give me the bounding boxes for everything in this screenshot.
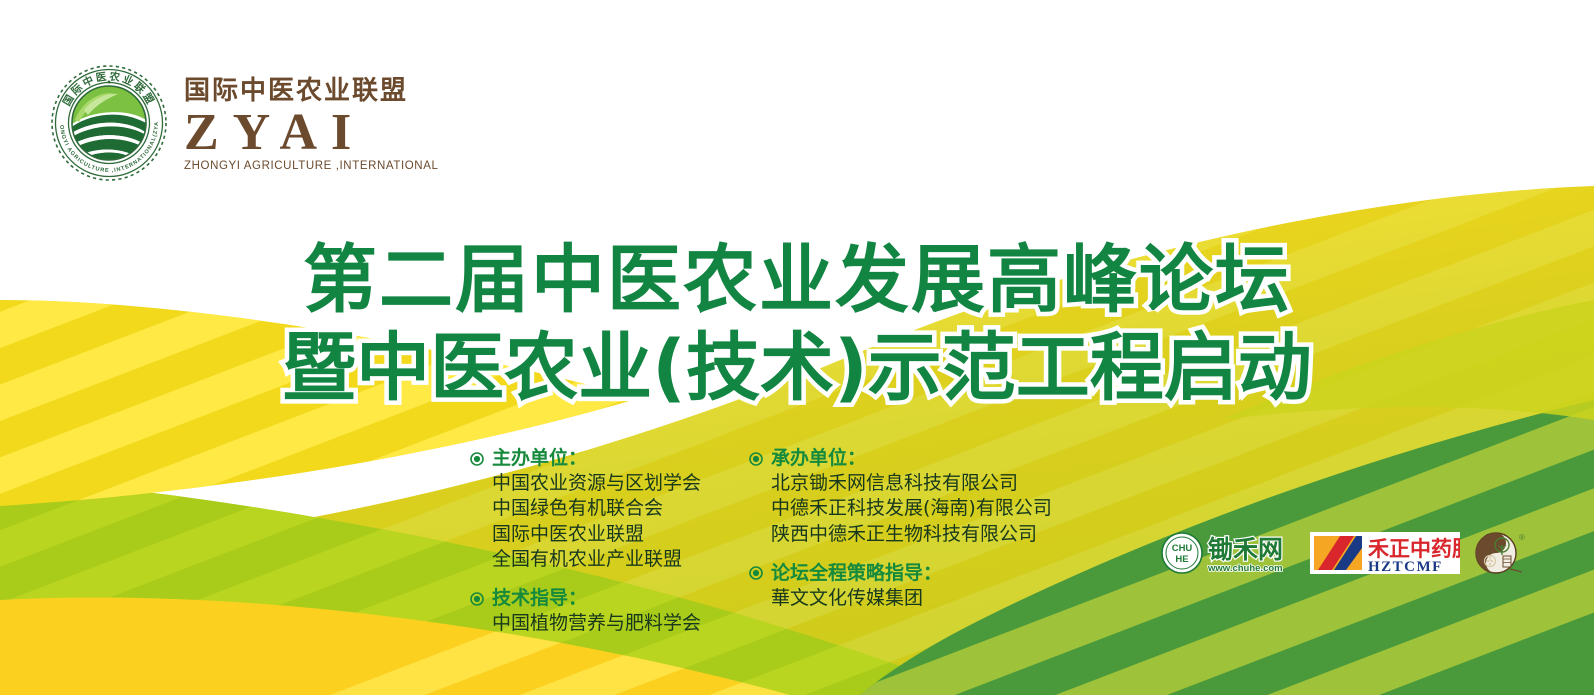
emblem-field-motif — [70, 84, 148, 168]
sponsor-logo-strip: CHU HE 锄禾网 www.chuhe.com 禾正中药肥 ® HZTCMF — [1158, 528, 1526, 578]
organizer-heading: 论坛全程策略指导： — [749, 561, 1052, 586]
organizer-credits: 主办单位： 中国农业资源与区划学会 中国绿色有机联合会 国际中医农业联盟 全国有… — [470, 446, 1052, 636]
chuhe-title-cn: 锄禾网 — [1208, 535, 1283, 564]
organizer-entry: 国际中医农业联盟 — [492, 522, 701, 547]
organizer-entry: 中德禾正科技发展(海南)有限公司 — [771, 496, 1052, 521]
hezheng-z-mark — [1314, 536, 1362, 570]
hezheng-abbr-en: HZTCMF — [1368, 559, 1443, 575]
organizer-group-strategy: 论坛全程策略指导： 華文文化传媒集团 — [749, 561, 1052, 611]
organizer-entry: 全国有机农业产业联盟 — [492, 547, 701, 572]
organizer-left-column: 主办单位： 中国农业资源与区划学会 中国绿色有机联合会 国际中医农业联盟 全国有… — [470, 446, 701, 636]
organizer-entry: 中国农业资源与区划学会 — [492, 471, 701, 496]
organizer-heading: 技术指导： — [470, 586, 701, 611]
organizer-entry: 中国植物营养与肥料学会 — [492, 611, 701, 636]
ring-bullet-icon — [470, 452, 484, 466]
taiji-tree-emblem-logo: ® — [1472, 528, 1526, 578]
chuhe-wang-logo: CHU HE 锄禾网 www.chuhe.com — [1158, 528, 1298, 578]
title-line-1: 第二届中医农业发展高峰论坛 — [0, 236, 1594, 324]
organizer-heading: 主办单位： — [470, 446, 701, 471]
conference-banner: 国际中医农业联盟 ZHONGYI AGRICULTURE ,INTERNATIO… — [0, 0, 1594, 695]
organizer-group-coorganizer: 承办单位： 北京锄禾网信息科技有限公司 中德禾正科技发展(海南)有限公司 陕西中… — [749, 446, 1052, 547]
wordmark-cn: 国际中医农业联盟 — [184, 78, 438, 104]
zyai-logo-lockup: 国际中医农业联盟 ZHONGYI AGRICULTURE ,INTERNATIO… — [48, 62, 438, 184]
title-line-2: 暨中医农业(技术)示范工程启动 — [0, 324, 1594, 412]
organizer-heading: 承办单位： — [749, 446, 1052, 471]
ring-bullet-icon — [749, 452, 763, 466]
zyai-wordmark: 国际中医农业联盟 ZYAI ZHONGYI AGRICULTURE ,INTER… — [184, 74, 438, 173]
wordmark-abbr: ZYAI — [184, 106, 438, 159]
ring-bullet-icon — [749, 566, 763, 580]
ring-bullet-icon — [470, 592, 484, 606]
organizer-entry: 華文文化传媒集团 — [771, 586, 1052, 611]
organizer-entry: 中国绿色有机联合会 — [492, 496, 701, 521]
organizer-heading-label: 技术指导： — [492, 586, 587, 611]
chuhe-badge-text-top: CHU — [1172, 543, 1193, 554]
hezheng-tcm-fertilizer-logo: 禾正中药肥 ® HZTCMF — [1310, 528, 1460, 578]
chuhe-badge-text-bottom: HE — [1175, 554, 1188, 565]
taiji-trademark: ® — [1519, 533, 1525, 542]
organizer-group-host: 主办单位： 中国农业资源与区划学会 中国绿色有机联合会 国际中医农业联盟 全国有… — [470, 446, 701, 572]
organizer-heading-label: 论坛全程策略指导： — [771, 561, 942, 586]
organizer-group-technical: 技术指导： 中国植物营养与肥料学会 — [470, 586, 701, 636]
organizer-entry: 陕西中德禾正生物科技有限公司 — [771, 522, 1052, 547]
organizer-entry: 北京锄禾网信息科技有限公司 — [771, 471, 1052, 496]
zyai-circular-emblem: 国际中医农业联盟 ZHONGYI AGRICULTURE ,INTERNATIO… — [48, 62, 170, 184]
chuhe-url: www.chuhe.com — [1207, 563, 1283, 574]
organizer-heading-label: 承办单位： — [771, 446, 866, 471]
hezheng-title-cn: 禾正中药肥 — [1368, 537, 1460, 561]
organizer-heading-label: 主办单位： — [492, 446, 587, 471]
organizer-right-column: 承办单位： 北京锄禾网信息科技有限公司 中德禾正科技发展(海南)有限公司 陕西中… — [749, 446, 1052, 611]
wordmark-en: ZHONGYI AGRICULTURE ,INTERNATIONAL — [184, 161, 438, 173]
banner-title: 第二届中医农业发展高峰论坛 暨中医农业(技术)示范工程启动 — [0, 236, 1594, 412]
